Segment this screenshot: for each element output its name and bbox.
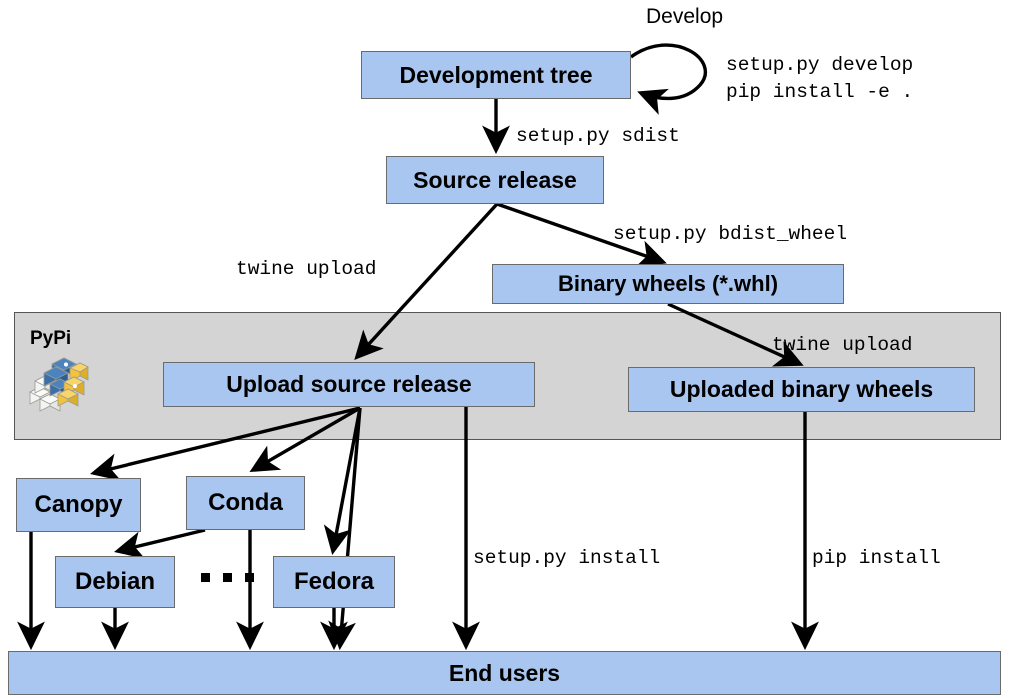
edge-label-twine-upload-wheels: twine upload <box>772 332 912 359</box>
edge-conda-to-debian <box>118 530 205 551</box>
python-blocks-logo-svg <box>28 354 90 412</box>
python-blocks-logo <box>28 354 90 417</box>
edge-label-twine-upload-source: twine upload <box>236 256 376 283</box>
node-label: End users <box>449 662 560 685</box>
node-end-users[interactable]: End users <box>8 651 1001 695</box>
pypi-region-label: PyPi <box>30 328 71 350</box>
diagram-canvas: PyPi <box>0 0 1009 698</box>
node-canopy[interactable]: Canopy <box>16 478 141 532</box>
edge-label-pip-install: pip install <box>812 545 941 572</box>
ellipsis-dot <box>245 573 254 582</box>
ellipsis-dot <box>223 573 232 582</box>
node-debian[interactable]: Debian <box>55 556 175 608</box>
node-label: Canopy <box>34 493 122 517</box>
node-label: Conda <box>208 491 283 515</box>
more-distros-ellipsis <box>201 573 254 582</box>
edge-label-setup-develop: setup.py develop pip install -e . <box>726 52 913 106</box>
node-uploaded-binary-wheels[interactable]: Uploaded binary wheels <box>628 367 975 412</box>
edge-label-setup-install: setup.py install <box>473 545 660 572</box>
node-label: Fedora <box>294 570 374 594</box>
node-binary-wheels[interactable]: Binary wheels (*.whl) <box>492 264 844 304</box>
node-source-release[interactable]: Source release <box>386 156 604 204</box>
edge-develop-self-loop <box>631 45 705 98</box>
node-upload-source-release[interactable]: Upload source release <box>163 362 535 407</box>
node-development-tree[interactable]: Development tree <box>361 51 631 99</box>
node-label: Upload source release <box>226 373 471 396</box>
node-fedora[interactable]: Fedora <box>273 556 395 608</box>
node-label: Debian <box>75 570 155 594</box>
node-label: Binary wheels (*.whl) <box>558 273 778 295</box>
node-label: Source release <box>413 169 577 192</box>
ellipsis-dot <box>201 573 210 582</box>
edge-label-setup-bdist-wheel: setup.py bdist_wheel <box>613 221 847 248</box>
node-label: Development tree <box>399 64 592 87</box>
edge-upload-source-to-end-users-a <box>340 408 360 646</box>
node-conda[interactable]: Conda <box>186 476 305 530</box>
edge-label-setup-sdist: setup.py sdist <box>516 123 680 150</box>
edge-label-develop: Develop <box>646 5 723 29</box>
node-label: Uploaded binary wheels <box>670 378 933 401</box>
